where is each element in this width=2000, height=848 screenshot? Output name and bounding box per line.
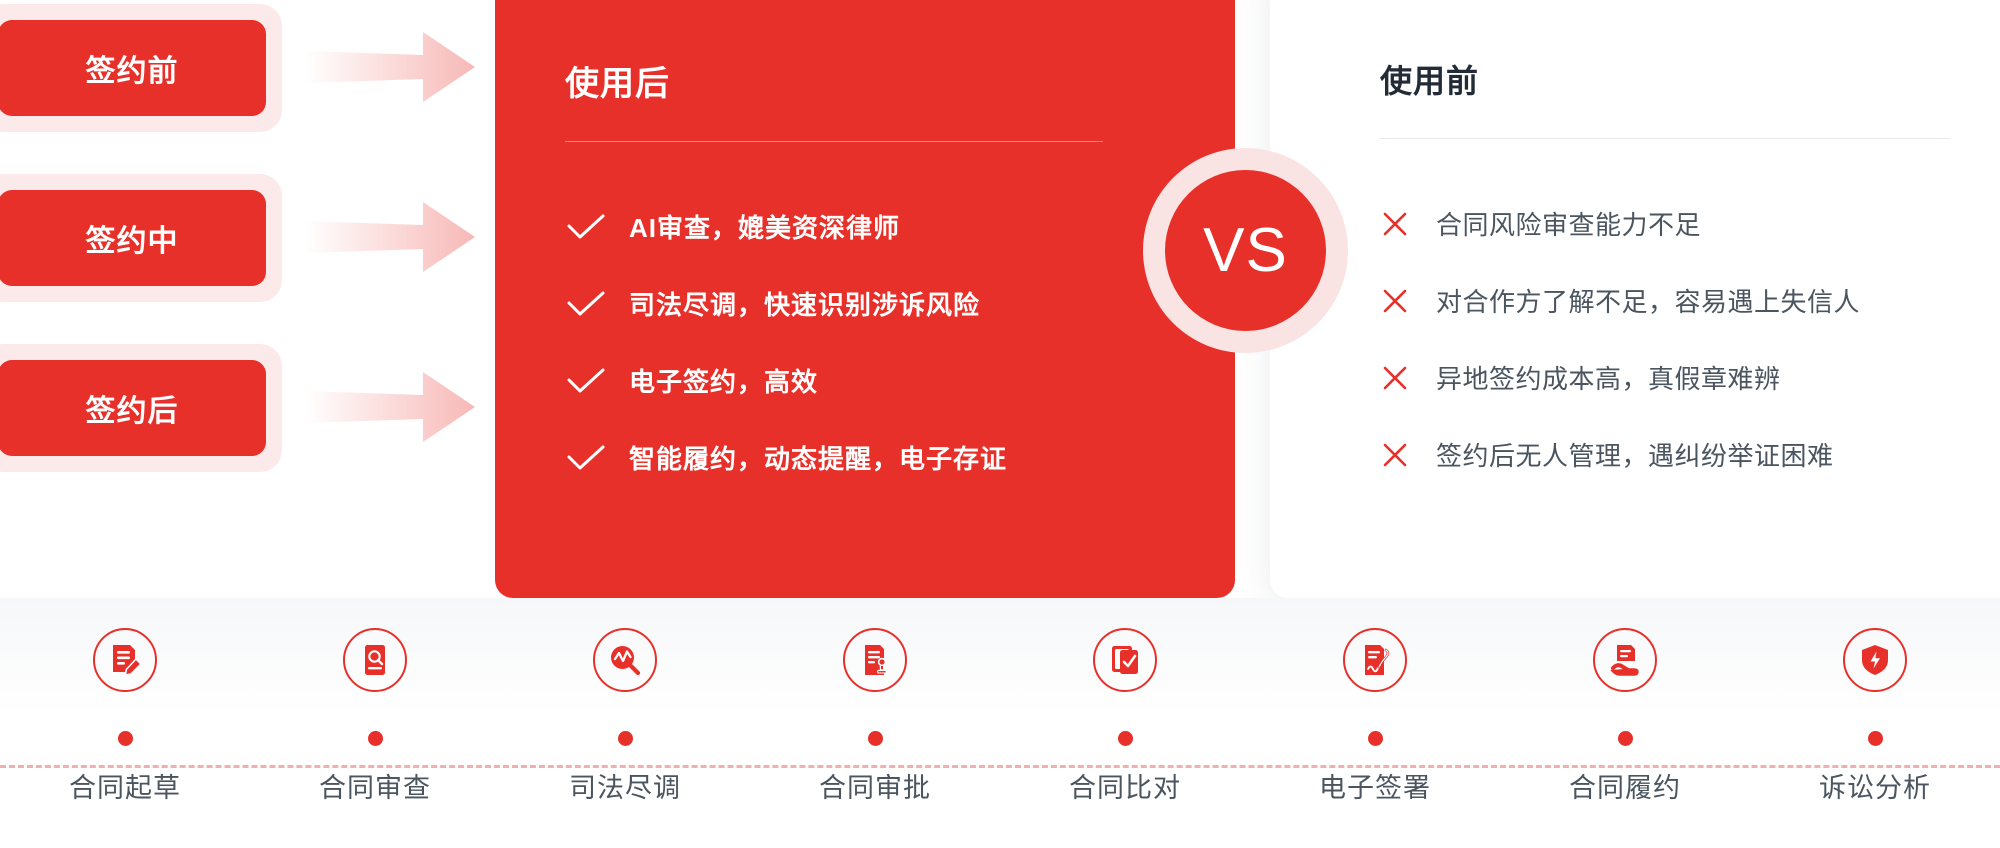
vs-badge: VS	[1143, 148, 1348, 353]
vs-badge-inner: VS	[1165, 170, 1326, 331]
before-card-list: 合同风险审查能力不足 对合作方了解不足，容易遇上失信人 异地签约成本高，真假章难…	[1380, 185, 2000, 493]
after-card: 使用后 AI审查，媲美资深律师 司法尽调，快速识别涉诉风险	[495, 0, 1235, 598]
before-list-item-label: 签约后无人管理，遇纠纷举证困难	[1436, 436, 1834, 473]
after-list-item-label: 智能履约，动态提醒，电子存证	[629, 439, 1007, 476]
arrow-right-icon	[305, 194, 475, 280]
before-list-item: 签约后无人管理，遇纠纷举证困难	[1380, 416, 2000, 493]
icon-ring	[93, 628, 157, 692]
arrow-right-icon	[305, 24, 475, 110]
check-icon	[565, 289, 607, 319]
magnifier-pulse-icon	[607, 642, 643, 678]
after-list-item: AI审查，媲美资深律师	[565, 188, 1165, 265]
before-list-item: 异地签约成本高，真假章难辨	[1380, 339, 2000, 416]
before-list-item: 合同风险审查能力不足	[1380, 185, 2000, 262]
timeline-step-judicial-due-diligence[interactable]: 司法尽调	[500, 598, 750, 805]
timeline-step-label: 电子签署	[1250, 766, 1500, 805]
before-card-divider	[1380, 138, 1950, 139]
timeline-step-contract-comparison[interactable]: 合同比对	[1000, 598, 1250, 805]
before-list-item-label: 合同风险审查能力不足	[1436, 205, 1701, 242]
check-icon	[565, 443, 607, 473]
cross-icon	[1380, 209, 1410, 239]
before-list-item: 对合作方了解不足，容易遇上失信人	[1380, 262, 2000, 339]
cross-icon	[1380, 440, 1410, 470]
timeline-step-contract-review[interactable]: 合同审查	[250, 598, 500, 805]
before-list-item-label: 异地签约成本高，真假章难辨	[1436, 359, 1781, 396]
icon-ring	[593, 628, 657, 692]
timeline-step-contract-performance[interactable]: 合同履约	[1500, 598, 1750, 805]
stage-pill-label: 签约后	[0, 360, 266, 456]
timeline-step-label: 合同起草	[0, 766, 250, 805]
timeline-step-litigation-analysis[interactable]: 诉讼分析	[1750, 598, 2000, 805]
after-list-item-label: AI审查，媲美资深律师	[629, 208, 900, 245]
cross-icon	[1380, 363, 1410, 393]
after-list-item: 电子签约，高效	[565, 342, 1165, 419]
documents-check-icon	[1107, 642, 1143, 678]
cross-icon	[1380, 286, 1410, 316]
document-stamp-icon	[857, 642, 893, 678]
timeline-dot	[618, 731, 633, 746]
timeline-step-label: 合同审查	[250, 766, 500, 805]
icon-ring	[1843, 628, 1907, 692]
timeline-step-label: 合同履约	[1500, 766, 1750, 805]
timeline-dot	[868, 731, 883, 746]
timeline-step-label: 合同比对	[1000, 766, 1250, 805]
before-card-title: 使用前	[1380, 56, 2000, 102]
icon-ring	[1343, 628, 1407, 692]
document-magnifier-icon	[357, 642, 393, 678]
timeline-step-contract-drafting[interactable]: 合同起草	[0, 598, 250, 805]
after-card-title: 使用后	[565, 56, 1165, 105]
icon-ring	[1593, 628, 1657, 692]
document-hand-icon	[1607, 642, 1643, 678]
timeline-dot	[118, 731, 133, 746]
document-signature-icon	[1357, 642, 1393, 678]
before-card: 使用前 合同风险审查能力不足 对合作方了解不足，容易遇上失信人	[1270, 0, 2000, 598]
timeline-step-label: 司法尽调	[500, 766, 750, 805]
timeline-step-label: 合同审批	[750, 766, 1000, 805]
stage-pill-label: 签约中	[0, 190, 266, 286]
timeline-dot	[368, 731, 383, 746]
process-timeline: 合同起草 合同审查	[0, 598, 2000, 848]
after-list-item-label: 电子签约，高效	[629, 362, 818, 399]
timeline-dot	[1368, 731, 1383, 746]
icon-ring	[843, 628, 907, 692]
icon-ring	[343, 628, 407, 692]
timeline-step-electronic-signing[interactable]: 电子签署	[1250, 598, 1500, 805]
timeline-dot	[1118, 731, 1133, 746]
after-card-divider	[565, 141, 1103, 142]
icon-ring	[1093, 628, 1157, 692]
stage-pill-before-signing[interactable]: 签约前	[0, 4, 282, 132]
after-list-item: 智能履约，动态提醒，电子存证	[565, 419, 1165, 496]
stage-pill-label: 签约前	[0, 20, 266, 116]
after-card-list: AI审查，媲美资深律师 司法尽调，快速识别涉诉风险 电子签约，高效	[565, 188, 1165, 496]
document-pen-icon	[106, 641, 144, 679]
before-list-item-label: 对合作方了解不足，容易遇上失信人	[1436, 282, 1860, 319]
stage-pill-after-signing[interactable]: 签约后	[0, 344, 282, 472]
timeline-dot	[1618, 731, 1633, 746]
after-list-item-label: 司法尽调，快速识别涉诉风险	[629, 285, 980, 322]
arrow-right-icon	[305, 364, 475, 450]
shield-bolt-icon	[1858, 643, 1892, 677]
after-list-item: 司法尽调，快速识别涉诉风险	[565, 265, 1165, 342]
timeline-step-label: 诉讼分析	[1750, 766, 2000, 805]
check-icon	[565, 366, 607, 396]
comparison-infographic: 签约前 签约中 签约后 使用后	[0, 0, 2000, 848]
check-icon	[565, 212, 607, 242]
timeline-step-contract-approval[interactable]: 合同审批	[750, 598, 1000, 805]
stage-pill-during-signing[interactable]: 签约中	[0, 174, 282, 302]
timeline-dot	[1868, 731, 1883, 746]
vs-badge-label: VS	[1203, 220, 1288, 282]
